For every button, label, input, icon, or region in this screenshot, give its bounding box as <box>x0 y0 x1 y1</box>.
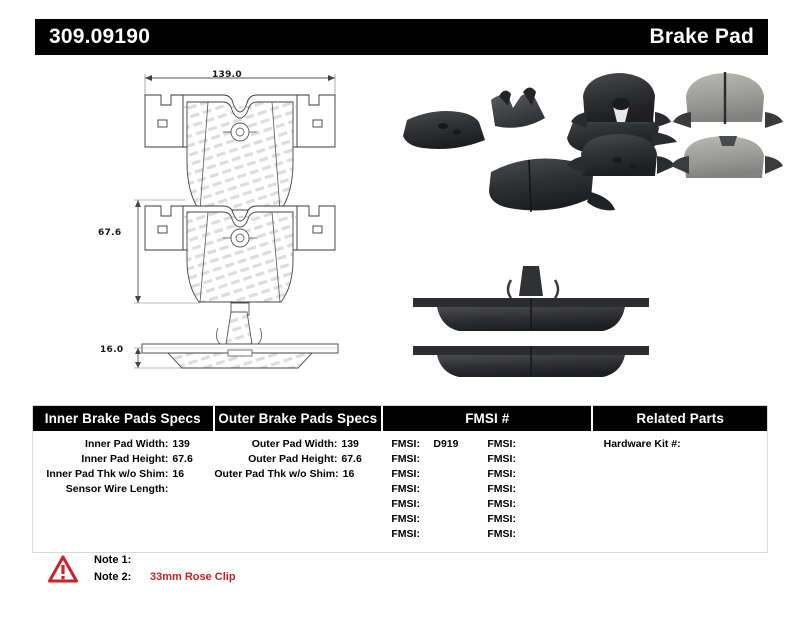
spec-value: 16 <box>343 467 384 482</box>
hardware-kit-row: Hardware Kit #: <box>594 437 767 452</box>
photo-edge-pair <box>413 266 649 377</box>
fmsi-label: FMSI: <box>487 482 523 497</box>
warning-triangle-icon <box>48 555 78 583</box>
column-header-related-parts: Related Parts <box>593 406 767 431</box>
pad-top-view <box>145 74 335 210</box>
fmsi-value <box>427 527 433 542</box>
pad-height-view <box>134 200 335 315</box>
fmsi-row: FMSI: <box>487 527 583 542</box>
spec-label: Outer Pad Width: <box>214 437 341 452</box>
fmsi-row: FMSI: D919 <box>391 437 487 452</box>
spec-label: Inner Pad Thk w/o Shim: <box>33 467 172 482</box>
table-header-row: Inner Brake Pads Specs Outer Brake Pads … <box>33 406 767 431</box>
fmsi-row: FMSI: <box>487 437 583 452</box>
spec-label: Sensor Wire Length: <box>33 482 172 497</box>
fmsi-label: FMSI: <box>487 512 523 527</box>
fmsi-value: D919 <box>427 437 458 452</box>
fmsi-label: FMSI: <box>391 512 427 527</box>
fmsi-row: FMSI: <box>391 452 487 467</box>
spec-row: Inner Pad Thk w/o Shim: 16 <box>33 467 214 482</box>
note-value <box>144 552 150 569</box>
spec-value <box>172 482 214 497</box>
spec-row: Inner Pad Height: 67.6 <box>33 452 214 467</box>
fmsi-value <box>523 527 529 542</box>
column-header-inner-specs: Inner Brake Pads Specs <box>33 406 215 431</box>
spec-label: Inner Pad Width: <box>33 437 172 452</box>
fmsi-row: FMSI: <box>487 482 583 497</box>
note-row: Note 2: 33mm Rose Clip <box>94 569 236 586</box>
product-type-label: Brake Pad <box>649 25 754 49</box>
fmsi-grid: FMSI: D919 FMSI: FMSI: FMSI: <box>383 437 593 542</box>
spec-label: Outer Pad Height: <box>214 452 341 467</box>
technical-drawings: 139.0 67.6 16.0 <box>90 60 390 390</box>
fmsi-row: FMSI: <box>487 467 583 482</box>
part-number: 309.09190 <box>49 25 150 49</box>
fmsi-value <box>427 482 433 497</box>
fmsi-row: FMSI: <box>487 452 583 467</box>
note-row: Note 1: <box>94 552 236 569</box>
fmsi-value <box>523 482 529 497</box>
spec-row: Sensor Wire Length: <box>33 482 214 497</box>
fmsi-label: FMSI: <box>391 437 427 452</box>
column-header-fmsi: FMSI # <box>383 406 593 431</box>
note-value: 33mm Rose Clip <box>144 569 236 586</box>
spec-row: Outer Pad Width: 139 <box>214 437 383 452</box>
fmsi-value <box>427 512 433 527</box>
fmsi-label: FMSI: <box>487 467 523 482</box>
fmsi-value <box>523 467 529 482</box>
fmsi-label: FMSI: <box>391 527 427 542</box>
pad-edge-view <box>134 312 338 368</box>
fmsi-value <box>523 452 529 467</box>
fmsi-value <box>523 512 529 527</box>
fmsi-value <box>427 497 433 512</box>
fmsi-row: FMSI: <box>391 482 487 497</box>
width-dimension-label: 139.0 <box>212 70 242 80</box>
notes-section: Note 1: Note 2: 33mm Rose Clip <box>48 552 468 586</box>
spec-label: Outer Pad Thk w/o Shim: <box>214 467 342 482</box>
fmsi-label: FMSI: <box>487 437 523 452</box>
product-photos <box>395 60 795 390</box>
spec-value: 67.6 <box>341 452 383 467</box>
fmsi-label: FMSI: <box>487 497 523 512</box>
spec-value: 139 <box>341 437 383 452</box>
note-label: Note 1: <box>94 552 144 569</box>
brake-pad-line-drawings <box>90 60 390 390</box>
spec-row: Outer Pad Thk w/o Shim: 16 <box>214 467 383 482</box>
spec-row: Inner Pad Width: 139 <box>33 437 214 452</box>
fmsi-label: FMSI: <box>391 497 427 512</box>
fmsi-value <box>427 467 433 482</box>
fmsi-row: FMSI: <box>487 512 583 527</box>
fmsi-column: FMSI: D919 FMSI: FMSI: FMSI: <box>383 431 593 542</box>
fmsi-value <box>523 497 529 512</box>
media-region: 139.0 67.6 16.0 <box>0 60 800 390</box>
fmsi-value <box>523 437 529 452</box>
fmsi-row: FMSI: <box>391 467 487 482</box>
note-lines: Note 1: Note 2: 33mm Rose Clip <box>94 552 236 586</box>
table-body: Inner Pad Width: 139 Inner Pad Height: 6… <box>33 431 767 542</box>
note-label: Note 2: <box>94 569 144 586</box>
fmsi-label: FMSI: <box>391 452 427 467</box>
header-bar: 309.09190 Brake Pad <box>35 19 768 55</box>
spec-label: Inner Pad Height: <box>33 452 172 467</box>
fmsi-label: FMSI: <box>391 467 427 482</box>
fmsi-row: FMSI: <box>391 527 487 542</box>
fmsi-label: FMSI: <box>391 482 427 497</box>
fmsi-label: FMSI: <box>487 452 523 467</box>
fmsi-row: FMSI: <box>391 512 487 527</box>
column-header-outer-specs: Outer Brake Pads Specs <box>215 406 384 431</box>
spec-value: 139 <box>172 437 214 452</box>
related-parts-column: Hardware Kit #: <box>594 431 767 542</box>
specifications-table: Inner Brake Pads Specs Outer Brake Pads … <box>32 405 768 553</box>
fmsi-value <box>427 452 433 467</box>
fmsi-row: FMSI: <box>391 497 487 512</box>
fmsi-subcolumn-right: FMSI: FMSI: FMSI: FMSI: <box>487 437 583 542</box>
spec-value: 16 <box>172 467 214 482</box>
product-photo-group <box>395 60 795 390</box>
spec-value: 67.6 <box>172 452 214 467</box>
height-dimension-label: 67.6 <box>98 228 121 238</box>
fmsi-row: FMSI: <box>487 497 583 512</box>
fmsi-label: FMSI: <box>487 527 523 542</box>
fmsi-subcolumn-left: FMSI: D919 FMSI: FMSI: FMSI: <box>391 437 487 542</box>
spec-row: Outer Pad Height: 67.6 <box>214 452 383 467</box>
outer-specs-column: Outer Pad Width: 139 Outer Pad Height: 6… <box>214 431 383 542</box>
thickness-dimension-label: 16.0 <box>100 345 123 355</box>
hardware-kit-label: Hardware Kit #: <box>604 438 681 450</box>
inner-specs-column: Inner Pad Width: 139 Inner Pad Height: 6… <box>33 431 214 542</box>
